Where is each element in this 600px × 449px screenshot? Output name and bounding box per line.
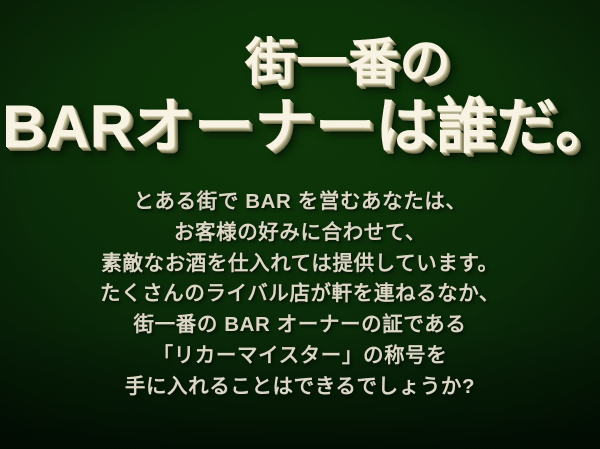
headline-line-2: BARオーナーは誰だ。 [0,93,600,161]
body-line-4: たくさんのライバル店が軒を連ねるなか、 [0,279,600,310]
body-line-5: 街一番の BAR オーナーの証である [0,310,600,341]
title-screen: 街一番の BARオーナーは誰だ。 とある街で BAR を営むあなたは、 お客様の… [0,0,600,449]
headline-block: 街一番の BARオーナーは誰だ。 [0,33,600,161]
body-line-1: とある街で BAR を営むあなたは、 [0,187,600,218]
content-layer: 街一番の BARオーナーは誰だ。 とある街で BAR を営むあなたは、 お客様の… [0,0,600,449]
body-line-7: 手に入れることはできるでしょうか? [0,372,600,403]
body-line-6: 「リカーマイスター」の称号を [0,341,600,372]
body-line-3: 素敵なお酒を仕入れては提供しています。 [0,249,600,280]
body-copy-block: とある街で BAR を営むあなたは、 お客様の好みに合わせて、 素敵なお酒を仕入… [0,187,600,403]
headline-line-1: 街一番の [0,33,600,93]
body-line-2: お客様の好みに合わせて、 [0,218,600,249]
